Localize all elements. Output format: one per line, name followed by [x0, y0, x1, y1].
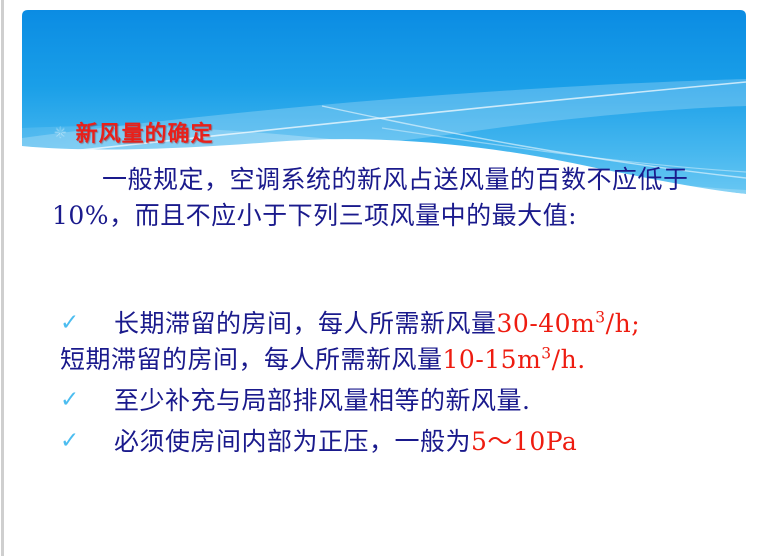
item1-line2-wrap: 短期滞留的房间，每人所需新风量10-15m3/h. [60, 342, 742, 378]
list-item: ✓ 长期滞留的房间，每人所需新风量30-40m3/h;短期滞留的房间，每人所需新… [52, 306, 742, 378]
item1-line1-value: 30-40m [497, 309, 596, 338]
slide-title: ✳ 新风量的确定 [54, 116, 214, 148]
intro-paragraph: 一般规定，空调系统的新风占送风量的百数不应低于10%，而且不应小于下列三项风量中… [52, 162, 732, 234]
item3-line1-pre: 必须使房间内部为正压，一般为 [114, 427, 471, 456]
paragraph-line-2-pre: 数不应低于 [561, 165, 689, 194]
item1-line1-unit: /h; [606, 309, 640, 338]
list-item-text: 必须使房间内部为正压，一般为5～10Pa [98, 424, 742, 460]
list-item-text: 至少补充与局部排风量相等的新风量. [98, 383, 742, 419]
item1-line2-value: 10-15m [443, 345, 542, 374]
item3-line1-value: 5～10Pa [471, 427, 577, 456]
paragraph-line-2-post: ，而且不应小于下列三项风量中 [109, 201, 466, 230]
item1-line1-sup: 3 [595, 309, 605, 327]
item1-line2-unit: /h. [552, 345, 586, 374]
slide-canvas: ✳ 新风量的确定 一般规定，空调系统的新风占送风量的百数不应低于10%，而且不应… [22, 10, 746, 550]
item1-line2-sup: 3 [541, 345, 551, 363]
paragraph-percentage: 10% [52, 201, 109, 230]
list-item-text: 长期滞留的房间，每人所需新风量30-40m3/h;短期滞留的房间，每人所需新风量… [98, 306, 742, 378]
item1-line1-pre: 长期滞留的房间，每人所需新风量 [114, 309, 497, 338]
slide-content: ✳ 新风量的确定 一般规定，空调系统的新风占送风量的百数不应低于10%，而且不应… [22, 10, 746, 550]
paragraph-line-1: 一般规定，空调系统的新风占送风量的百 [102, 165, 561, 194]
left-edge-rule [1, 0, 4, 556]
paragraph-line-3: 的最大值: [466, 201, 577, 230]
item1-line2-pre: 短期滞留的房间，每人所需新风量 [60, 345, 443, 374]
list-item: ✓ 必须使房间内部为正压，一般为5～10Pa [52, 424, 742, 460]
slide-title-text: 新风量的确定 [76, 116, 214, 148]
bullet-list: ✓ 长期滞留的房间，每人所需新风量30-40m3/h;短期滞留的房间，每人所需新… [52, 306, 742, 465]
list-item: ✓ 至少补充与局部排风量相等的新风量. [52, 383, 742, 419]
snowflake-bullet-icon: ✳ [54, 125, 67, 140]
item2-line1-pre: 至少补充与局部排风量相等的新风量. [114, 386, 530, 415]
